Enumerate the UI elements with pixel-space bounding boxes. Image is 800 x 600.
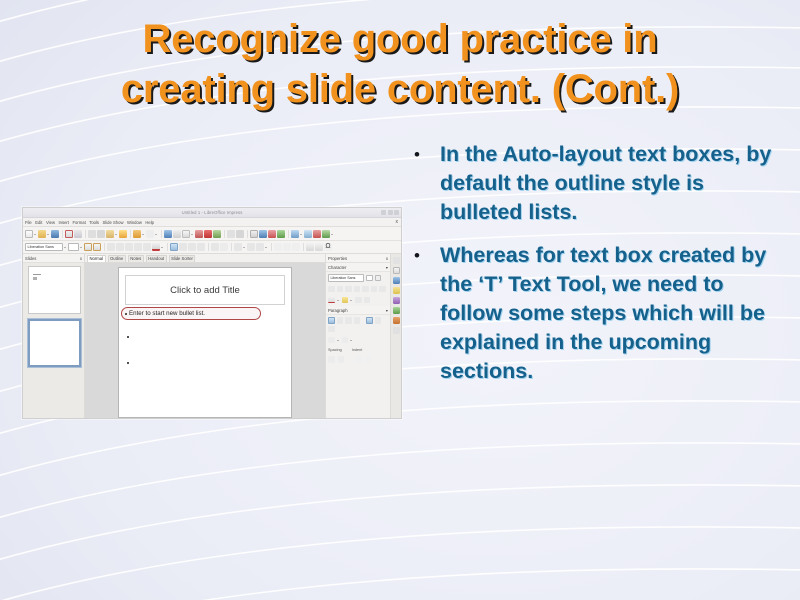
sidebar-master-slides-icon [393, 297, 400, 304]
paragraph-spacing-row [326, 354, 390, 365]
spacing-label: Spacing [328, 348, 342, 352]
redo-icon [146, 230, 154, 238]
find-replace-icon [164, 230, 172, 238]
increase-font-size-icon [84, 243, 92, 251]
sidebar-styles-icon [393, 307, 400, 314]
unordered-list-icon [211, 243, 219, 251]
italic-icon [337, 286, 344, 293]
cut-icon [88, 230, 96, 238]
toolbar-separator [247, 230, 248, 238]
master-slide-icon [250, 230, 258, 238]
align-right-icon [188, 243, 196, 251]
workspace: Slides x Normal Outline Notes Handout [23, 254, 401, 418]
tab-notes: Notes [128, 255, 144, 262]
chevron-down-icon [115, 230, 118, 238]
title-placeholder: Click to add Title [125, 275, 285, 305]
paragraph-section-label: Paragraph [328, 308, 348, 313]
slides-panel-header: Slides x [23, 254, 84, 263]
tab-outline: Outline [108, 255, 126, 262]
formatting-toolbar: Liberation Sans [23, 241, 401, 254]
outline-placeholder: Enter to start new bullet list. [125, 310, 285, 382]
insert-textbox-icon [227, 230, 235, 238]
menu-item-format: Format [72, 220, 85, 225]
move-down-icon [283, 243, 291, 251]
window-titlebar: Untitled 1 - LibreOffice Impress [23, 208, 401, 218]
print-icon [74, 230, 82, 238]
start-from-current-icon [277, 230, 285, 238]
subscript-icon [379, 286, 386, 293]
new-slide-icon [291, 230, 299, 238]
clear-formatting-icon [364, 297, 371, 304]
slide-canvas: Click to add Title Enter to start new bu… [118, 267, 292, 418]
align-left-icon [170, 243, 178, 251]
paragraph-section-header: Paragraph ▾ [326, 306, 390, 315]
chevron-down-icon [350, 336, 353, 344]
copy-icon [97, 230, 105, 238]
toolbar-separator [130, 230, 131, 238]
standard-toolbar [23, 227, 401, 241]
chevron-down-icon [161, 243, 164, 251]
duplicate-slide-icon [304, 230, 312, 238]
embedded-libreoffice-impress-screenshot: Untitled 1 - LibreOffice Impress File Ed… [22, 207, 402, 419]
line-spacing-icon [234, 243, 242, 251]
chevron-down-icon [375, 275, 382, 282]
character-font-row: Liberation Sans [326, 272, 390, 284]
superscript-icon [371, 286, 378, 293]
slides-panel-title: Slides [25, 256, 36, 261]
chevron-down-icon [337, 336, 340, 344]
slide-thumbnail-list [23, 263, 84, 418]
chevron-down-icon [265, 243, 268, 251]
font-name-field: Liberation Sans [25, 243, 63, 252]
editing-area: Normal Outline Notes Handout Slide Sorte… [85, 254, 325, 418]
properties-close-icon: x [386, 256, 388, 261]
zoom-icon [173, 230, 181, 238]
insert-table-icon [195, 230, 203, 238]
toolbar-separator [167, 243, 168, 251]
menu-item-help: Help [145, 220, 154, 225]
chevron-down-icon [64, 243, 67, 251]
slide-canvas-wrapper: Click to add Title Enter to start new bu… [85, 263, 325, 418]
align-left-icon [328, 317, 335, 324]
insert-image-icon [204, 230, 212, 238]
delete-slide-icon [313, 230, 321, 238]
slide-title: Recognize good practice in creating slid… [38, 14, 762, 114]
strikethrough-icon [134, 243, 142, 251]
properties-sidebar: Properties x Character ▾ Liberation Sans [325, 254, 401, 418]
menu-item-view: View [46, 220, 55, 225]
chevron-down-icon [191, 230, 194, 238]
sidebar-slide-transition-icon [393, 277, 400, 284]
bold-icon [107, 243, 115, 251]
sidebar-navigator-icon [393, 327, 400, 334]
align-bottom-icon [328, 326, 335, 333]
shadow-icon [362, 286, 369, 293]
menu-bar: File Edit View Insert Format Tools Slide… [23, 218, 401, 227]
save-icon [51, 230, 59, 238]
bullet-icon: • [408, 140, 440, 169]
slide-layout-icon [259, 230, 267, 238]
document-close-icon: x [396, 219, 399, 225]
align-justified-icon [197, 243, 205, 251]
chevron-down-icon [331, 230, 334, 238]
bold-icon [328, 286, 335, 293]
slide-thumbnail-2 [28, 319, 81, 367]
highlight-oval-annotation [121, 307, 261, 320]
thumbnail-title-line [33, 274, 41, 275]
paste-icon [106, 230, 114, 238]
view-tab-bar: Normal Outline Notes Handout Slide Sorte… [85, 254, 325, 263]
menu-item-window: Window [127, 220, 142, 225]
sidebar-properties-icon [393, 267, 400, 274]
indent-label: Indent [352, 348, 363, 352]
clone-formatting-icon [119, 230, 127, 238]
decrease-font-size-icon [93, 243, 101, 251]
export-pdf-icon [65, 230, 73, 238]
decrease-paragraph-spacing-icon [338, 356, 345, 363]
thumbnail-content-block [33, 277, 37, 280]
properties-header: Properties x [326, 254, 390, 263]
minimize-icon [381, 210, 386, 215]
underline-icon [125, 243, 133, 251]
menu-item-slide-show: Slide Show [103, 220, 124, 225]
maximize-icon [388, 210, 393, 215]
presentation-slide: Recognize good practice in creating slid… [0, 0, 800, 600]
bullet-icon [127, 336, 129, 338]
properties-title: Properties [328, 256, 347, 261]
underline-icon [345, 286, 352, 293]
insert-special-character-icon: Ω [324, 243, 332, 251]
decrease-indent-icon [256, 243, 264, 251]
align-center-icon [337, 317, 344, 324]
slide-title-line-1: Recognize good practice in [38, 14, 762, 64]
slide-thumbnail-1 [28, 266, 81, 314]
list-item: • Whereas for text box created by the ‘T… [408, 241, 780, 386]
align-middle-icon [375, 317, 382, 324]
menu-item-insert: Insert [58, 220, 68, 225]
shadow-icon [143, 243, 151, 251]
paragraph-section-more-icon: ▾ [386, 308, 388, 313]
font-color-icon [328, 297, 335, 304]
toolbar-separator [62, 230, 63, 238]
slides-panel-close-icon: x [80, 256, 82, 261]
bullet-placeholder-row: Enter to start new bullet list. [125, 310, 205, 317]
font-size-field [68, 243, 79, 252]
slide-title-line-2: creating slide content. (Cont.) [38, 64, 762, 114]
undo-icon [133, 230, 141, 238]
tab-handout: Handout [146, 255, 167, 262]
chevron-down-icon [243, 243, 246, 251]
sidebar-animation-icon [393, 287, 400, 294]
paragraph-list-row [326, 334, 390, 346]
font-size-field-icon [366, 275, 373, 282]
list-item: • In the Auto-layout text boxes, by defa… [408, 140, 780, 227]
character-dialog-icon [306, 243, 314, 251]
chevron-down-icon [155, 230, 158, 238]
show-draw-functions-icon [322, 230, 330, 238]
toolbar-separator [231, 243, 232, 251]
increase-paragraph-spacing-icon [328, 356, 335, 363]
paragraph-align-row [326, 315, 390, 334]
font-color-icon [152, 243, 160, 251]
tab-slide-sorter: Slide Sorter [169, 255, 196, 262]
align-justified-icon [354, 317, 361, 324]
strikethrough-icon [354, 286, 361, 293]
bullet-text-2: Whereas for text box created by the ‘T’ … [440, 241, 780, 386]
chevron-down-icon [142, 230, 145, 238]
character-color-row [326, 294, 390, 306]
slides-panel: Slides x [23, 254, 85, 418]
ordered-list-icon [220, 243, 228, 251]
bullet-icon [127, 362, 129, 364]
chevron-down-icon [47, 230, 50, 238]
character-style-row [326, 284, 390, 295]
insert-chart-icon [213, 230, 221, 238]
menu-item-tools: Tools [89, 220, 99, 225]
toolbar-separator [208, 243, 209, 251]
window-controls [381, 210, 399, 215]
character-spacing-icon [355, 297, 362, 304]
move-up-icon [274, 243, 282, 251]
sidebar-gallery-icon [393, 317, 400, 324]
chevron-down-icon [80, 243, 83, 251]
chevron-down-icon [337, 296, 340, 304]
unordered-list-icon [328, 337, 335, 344]
paragraph-labels-row: Spacing Indent [326, 346, 390, 354]
slide-body-text: • In the Auto-layout text boxes, by defa… [408, 140, 780, 400]
toolbar-separator [303, 243, 304, 251]
display-grid-icon [182, 230, 190, 238]
sidebar-tab-rail [390, 254, 401, 418]
start-slideshow-icon [268, 230, 276, 238]
increase-indent-icon [247, 243, 255, 251]
properties-content: Properties x Character ▾ Liberation Sans [326, 254, 390, 418]
window-title: Untitled 1 - LibreOffice Impress [182, 210, 243, 215]
sidebar-font-name-field: Liberation Sans [328, 274, 364, 282]
promote-icon [292, 243, 300, 251]
character-section-more-icon: ▾ [386, 265, 388, 270]
paragraph-dialog-icon [315, 243, 323, 251]
menu-item-file: File [25, 220, 32, 225]
toolbar-separator [104, 243, 105, 251]
new-document-icon [25, 230, 33, 238]
toolbar-separator [224, 230, 225, 238]
character-section-header: Character ▾ [326, 263, 390, 272]
chevron-down-icon [350, 296, 353, 304]
character-section-label: Character [328, 265, 346, 270]
italic-icon [116, 243, 124, 251]
menu-item-edit: Edit [35, 220, 42, 225]
align-top-icon [366, 317, 373, 324]
align-right-icon [345, 317, 352, 324]
open-file-icon [38, 230, 46, 238]
decrease-indent-icon [365, 356, 372, 363]
sidebar-settings-icon [393, 257, 400, 264]
toolbar-separator [161, 230, 162, 238]
align-center-icon [179, 243, 187, 251]
close-icon [394, 210, 399, 215]
increase-indent-icon [355, 356, 362, 363]
highlight-color-icon [342, 297, 349, 304]
toolbar-separator [85, 230, 86, 238]
chevron-down-icon [300, 230, 303, 238]
toolbar-separator [271, 243, 272, 251]
chevron-down-icon [34, 230, 37, 238]
toolbar-separator [288, 230, 289, 238]
ordered-list-icon [342, 337, 349, 344]
bullet-text-1: In the Auto-layout text boxes, by defaul… [440, 140, 780, 227]
bullet-icon: • [408, 241, 440, 270]
insert-special-char-icon [236, 230, 244, 238]
tab-normal: Normal [87, 255, 106, 262]
